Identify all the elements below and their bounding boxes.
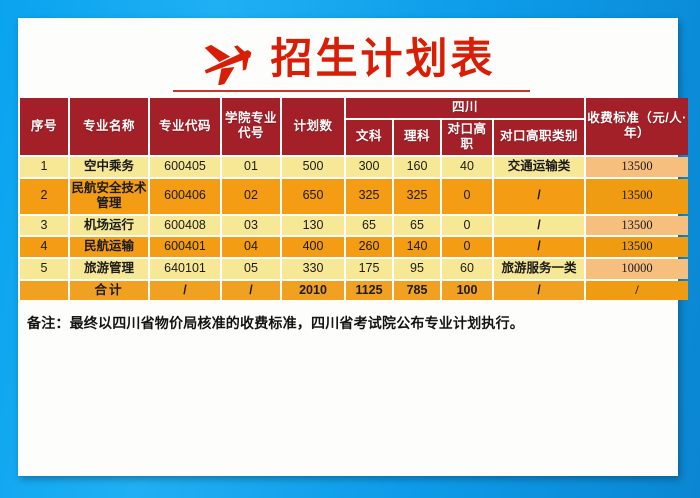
cell-science: 325 <box>394 179 440 214</box>
table-row: 3机场运行6004080313065650/13500 <box>20 216 688 236</box>
total-cell-seq <box>20 281 68 301</box>
cell-college-code: 03 <box>222 216 280 236</box>
cell-major-name: 旅游管理 <box>70 259 148 279</box>
th-seq: 序号 <box>20 98 68 155</box>
cell-fee: 13500 <box>586 216 688 236</box>
cell-college-code: 04 <box>222 237 280 257</box>
cell-seq: 2 <box>20 179 68 214</box>
th-liberal-arts: 文科 <box>346 120 392 155</box>
th-major-name: 专业名称 <box>70 98 148 155</box>
total-cell-science: 785 <box>394 281 440 301</box>
cell-plan-count: 130 <box>282 216 344 236</box>
cell-major-name: 民航运输 <box>70 237 148 257</box>
page-title: 招生计划表 <box>270 38 495 80</box>
cell-vocational: 0 <box>442 216 492 236</box>
cell-vocational-category: 旅游服务一类 <box>494 259 584 279</box>
th-science: 理科 <box>394 120 440 155</box>
total-cell-vocational: 100 <box>442 281 492 301</box>
total-cell-plan-count: 2010 <box>282 281 344 301</box>
table-row: 2民航安全技术管理600406026503253250/13500 <box>20 179 688 214</box>
cell-vocational-category: / <box>494 179 584 214</box>
cell-major-code: 640101 <box>150 259 220 279</box>
content-card: 招生计划表 序号 专业名称 专业代码 学院专业代号 计划数 四川 收费标准（元/… <box>18 18 678 476</box>
cell-fee: 13500 <box>586 157 688 177</box>
airplane-icon <box>200 37 256 85</box>
table-row: 1空中乘务6004050150030016040交通运输类13500 <box>20 157 688 177</box>
cell-liberal-arts: 175 <box>346 259 392 279</box>
th-vocational-category: 对口高职类别 <box>494 120 584 155</box>
cell-major-name: 民航安全技术管理 <box>70 179 148 214</box>
cell-plan-count: 330 <box>282 259 344 279</box>
total-cell-label: 合计 <box>70 281 148 301</box>
cell-vocational: 0 <box>442 237 492 257</box>
cell-plan-count: 400 <box>282 237 344 257</box>
total-cell-fee: / <box>586 281 688 301</box>
table-body: 1空中乘务6004050150030016040交通运输类135002民航安全技… <box>20 157 688 300</box>
cell-vocational: 0 <box>442 179 492 214</box>
cell-science: 65 <box>394 216 440 236</box>
cell-major-code: 600406 <box>150 179 220 214</box>
cell-fee: 10000 <box>586 259 688 279</box>
total-cell-major-code: / <box>150 281 220 301</box>
cell-vocational-category: / <box>494 237 584 257</box>
cell-college-code: 02 <box>222 179 280 214</box>
cell-liberal-arts: 325 <box>346 179 392 214</box>
cell-vocational-category: 交通运输类 <box>494 157 584 177</box>
cell-major-code: 600405 <box>150 157 220 177</box>
cell-liberal-arts: 260 <box>346 237 392 257</box>
th-plan-count: 计划数 <box>282 98 344 155</box>
total-cell-liberal-arts: 1125 <box>346 281 392 301</box>
cell-seq: 1 <box>20 157 68 177</box>
cell-major-code: 600401 <box>150 237 220 257</box>
table-total-row: 合计//20101125785100// <box>20 281 688 301</box>
table-row: 4民航运输600401044002601400/13500 <box>20 237 688 257</box>
cell-vocational: 40 <box>442 157 492 177</box>
title-underline <box>173 90 530 92</box>
cell-fee: 13500 <box>586 237 688 257</box>
th-region-sichuan: 四川 <box>346 98 584 118</box>
poster-root: 招生计划表 序号 专业名称 专业代码 学院专业代号 计划数 四川 收费标准（元/… <box>0 0 700 498</box>
cell-seq: 5 <box>20 259 68 279</box>
cell-major-name: 机场运行 <box>70 216 148 236</box>
cell-liberal-arts: 300 <box>346 157 392 177</box>
th-major-code: 专业代码 <box>150 98 220 155</box>
total-cell-vocational-category: / <box>494 281 584 301</box>
cell-liberal-arts: 65 <box>346 216 392 236</box>
header-row-top: 序号 专业名称 专业代码 学院专业代号 计划数 四川 收费标准（元/人·年） <box>20 98 688 118</box>
cell-fee: 13500 <box>586 179 688 214</box>
th-college-code: 学院专业代号 <box>222 98 280 155</box>
title-bar: 招生计划表 <box>18 18 678 96</box>
cell-college-code: 05 <box>222 259 280 279</box>
table-head: 序号 专业名称 专业代码 学院专业代号 计划数 四川 收费标准（元/人·年） 文… <box>20 98 688 155</box>
footer-note: 备注：最终以四川省物价局核准的收费标准，四川省考试院公布专业计划执行。 <box>18 309 678 333</box>
th-vocational: 对口高职 <box>442 120 492 155</box>
cell-vocational: 60 <box>442 259 492 279</box>
cell-seq: 4 <box>20 237 68 257</box>
admission-plan-table: 序号 专业名称 专业代码 学院专业代号 计划数 四川 收费标准（元/人·年） 文… <box>18 96 690 302</box>
cell-science: 140 <box>394 237 440 257</box>
cell-plan-count: 650 <box>282 179 344 214</box>
total-cell-college-code: / <box>222 281 280 301</box>
cell-seq: 3 <box>20 216 68 236</box>
cell-college-code: 01 <box>222 157 280 177</box>
table-row: 5旅游管理640101053301759560旅游服务一类10000 <box>20 259 688 279</box>
th-fee-standard: 收费标准（元/人·年） <box>586 98 688 155</box>
cell-plan-count: 500 <box>282 157 344 177</box>
cell-vocational-category: / <box>494 216 584 236</box>
cell-science: 95 <box>394 259 440 279</box>
cell-major-code: 600408 <box>150 216 220 236</box>
cell-major-name: 空中乘务 <box>70 157 148 177</box>
cell-science: 160 <box>394 157 440 177</box>
